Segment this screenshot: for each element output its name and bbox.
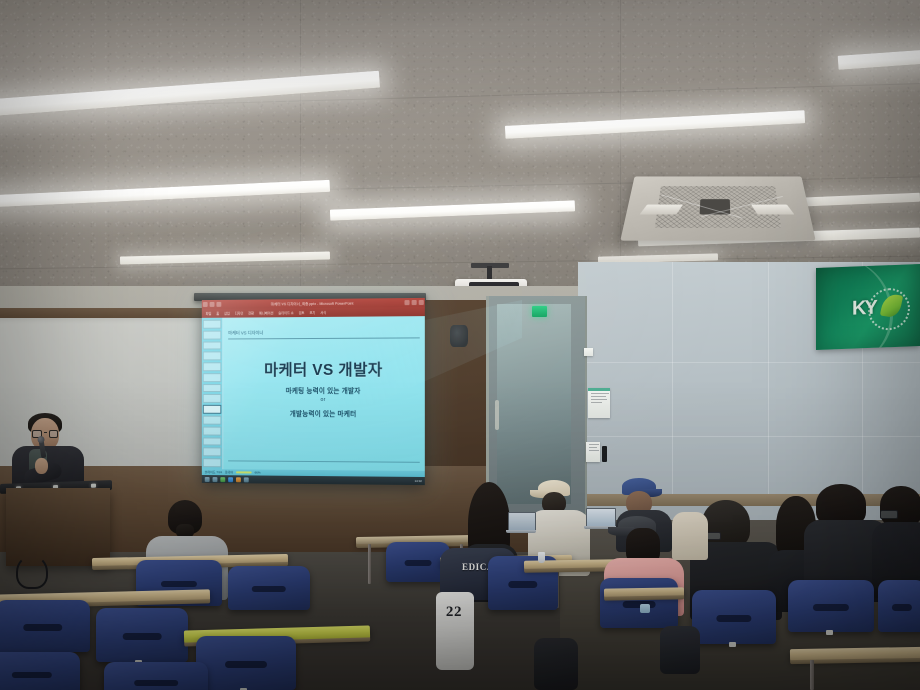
slide-header-text: 마케터 VS 디자이너 — [228, 329, 420, 336]
panel-seam — [578, 362, 920, 363]
slide-thumbnail[interactable] — [203, 384, 222, 393]
ribbon-tab-slideshow[interactable]: 슬라이드 쇼 — [278, 310, 293, 315]
powerpoint-title: 마케터 VS 디자이너_최종.pptx - Microsoft PowerPoi… — [222, 300, 403, 307]
ribbon-tab-format[interactable]: 서식 — [320, 310, 326, 315]
green-banner: KY — [816, 264, 920, 350]
ribbon-tab-insert[interactable]: 삽입 — [224, 311, 230, 316]
slide-canvas[interactable]: 마케터 VS 디자이너 마케터 VS 개발자 마케팅 능력이 있는 개발자 or… — [223, 316, 425, 471]
slide-thumbnail[interactable] — [203, 426, 222, 435]
slide-thumbnail[interactable] — [203, 330, 222, 339]
exit-sign-icon — [532, 306, 547, 317]
ribbon-tab-animations[interactable]: 애니메이션 — [259, 310, 273, 315]
chair-handle-slot — [892, 604, 912, 611]
chair[interactable] — [0, 652, 80, 690]
undo-icon[interactable] — [216, 302, 221, 307]
notice-line — [589, 447, 597, 448]
ceiling-texture — [0, 0, 920, 300]
laptop-base — [506, 530, 536, 533]
slide-thumbnail[interactable] — [203, 320, 222, 329]
chair[interactable] — [228, 566, 310, 610]
microphone-head — [37, 436, 45, 444]
ceiling-ac-unit — [620, 176, 815, 240]
hair — [702, 500, 750, 548]
cable — [16, 555, 48, 589]
slide-thumbnail[interactable] — [203, 437, 222, 446]
panel-seam — [578, 436, 920, 437]
chair-handle-slot — [508, 581, 537, 588]
notice-line — [589, 450, 599, 451]
chair-handle-slot — [405, 560, 432, 565]
notice-band — [588, 388, 610, 391]
panel-seam — [672, 262, 673, 497]
chair-clip — [729, 642, 736, 647]
desk-leg — [368, 544, 371, 584]
ribbon-tab-home[interactable]: 홈 — [216, 311, 219, 316]
notice-line — [591, 402, 602, 403]
slide-thumbnail[interactable] — [203, 341, 222, 350]
logo-text: KY — [852, 297, 876, 321]
slide-thumbnail[interactable] — [203, 373, 222, 382]
powerpoint-workspace: 마케터 VS 디자이너 마케터 VS 개발자 마케팅 능력이 있는 개발자 or… — [202, 316, 425, 471]
wall-speaker-icon — [450, 325, 468, 347]
podium — [6, 488, 110, 566]
chair[interactable] — [788, 580, 874, 632]
wall-notice — [588, 388, 610, 418]
jersey-number: 22 — [438, 604, 470, 621]
search-icon[interactable] — [213, 477, 218, 482]
cup — [640, 604, 650, 613]
slide-divider — [228, 337, 420, 339]
start-icon[interactable] — [205, 477, 210, 482]
notice-line — [591, 399, 607, 400]
slide-subtitle-2: 개발능력이 있는 마케터 — [228, 408, 420, 418]
slide-counter: 슬라이드 7/24 — [205, 470, 222, 474]
hair — [880, 486, 920, 526]
slide-thumbnail-panel[interactable] — [202, 318, 223, 470]
notice-line — [589, 444, 599, 445]
slide-thumbnail-selected[interactable] — [203, 405, 222, 414]
slide-divider — [228, 460, 420, 462]
chair[interactable] — [196, 636, 296, 690]
slide-thumbnail[interactable] — [203, 362, 222, 371]
app-icon[interactable] — [244, 477, 249, 482]
ribbon-tab-design[interactable]: 디자인 — [235, 311, 244, 316]
chair-handle-slot — [161, 581, 197, 587]
wall-notice — [586, 442, 600, 462]
laptop-screen — [508, 512, 536, 532]
chair[interactable] — [104, 662, 208, 690]
backpack[interactable] — [534, 638, 578, 690]
powerpoint-taskbar-icon[interactable] — [236, 477, 241, 482]
presenter-hand — [35, 458, 48, 474]
glasses-lens-right — [49, 430, 59, 438]
zoom-slider[interactable] — [236, 471, 252, 474]
chair[interactable] — [600, 578, 678, 628]
notice-line — [591, 396, 606, 397]
slide-thumbnail[interactable] — [203, 352, 222, 361]
window-icon — [203, 302, 208, 307]
chair[interactable] — [692, 590, 776, 644]
slide-title-text: 마케터 VS 개발자 — [228, 358, 420, 380]
glasses-icon — [706, 532, 721, 540]
chair[interactable] — [0, 600, 90, 652]
zoom-level[interactable]: 66% — [255, 471, 261, 475]
taskbar-clock: 14:32 — [415, 479, 422, 483]
cup — [538, 552, 545, 563]
language-indicator[interactable]: 한국어 — [225, 470, 233, 474]
desk — [790, 647, 920, 661]
slide-thumbnail[interactable] — [203, 458, 222, 467]
desk — [604, 587, 684, 597]
wall-notice — [584, 348, 593, 356]
minimize-icon[interactable] — [404, 300, 409, 305]
banner-logo: KY — [850, 286, 908, 330]
chair[interactable] — [878, 580, 920, 632]
chair-handle-slot — [623, 601, 656, 608]
ac-vane — [751, 205, 794, 215]
chair[interactable] — [96, 608, 188, 662]
desk-leg — [810, 660, 814, 690]
glasses-icon — [32, 430, 58, 436]
ribbon-tab-review[interactable]: 검토 — [299, 310, 305, 315]
glasses-icon — [880, 510, 898, 519]
ceiling-seam — [620, 0, 621, 300]
chair-handle-slot — [225, 661, 267, 668]
ribbon-tab-view[interactable]: 보기 — [309, 310, 315, 315]
wall-switch[interactable] — [602, 446, 607, 462]
close-icon[interactable] — [419, 300, 424, 305]
browser-icon[interactable] — [228, 477, 233, 482]
backpack[interactable] — [660, 626, 700, 674]
ribbon-tab-transitions[interactable]: 전환 — [248, 311, 254, 316]
projector-mount-pole — [487, 266, 492, 280]
chair-handle-slot — [813, 604, 849, 611]
chair-handle-slot — [12, 672, 52, 678]
glass-door[interactable] — [486, 296, 587, 516]
chair-handle-slot — [123, 633, 162, 640]
slide-subtitle-or: or — [228, 397, 420, 403]
glasses-bridge — [44, 432, 47, 433]
chair-handle-slot — [134, 680, 178, 685]
chair-handle-slot — [252, 586, 286, 592]
projection-screen: 마케터 VS 디자이너_최종.pptx - Microsoft PowerPoi… — [202, 298, 425, 485]
torso — [672, 512, 708, 560]
ribbon-tab-file[interactable]: 파일 — [206, 311, 212, 316]
notice-line — [591, 393, 609, 394]
ac-vane — [640, 205, 683, 215]
slide-thumbnail[interactable] — [203, 394, 222, 403]
door-handle[interactable] — [495, 400, 499, 430]
save-icon[interactable] — [210, 302, 215, 307]
chair-clip — [826, 630, 833, 635]
lecture-hall-photo: KY 마케터 VS 디자이너_최종.pptx - Microsoft Power… — [0, 0, 920, 690]
slide-thumbnail[interactable] — [203, 416, 222, 425]
slide-thumbnail[interactable] — [203, 448, 222, 457]
slide-subtitle-1: 마케팅 능력이 있는 개발자 — [228, 385, 420, 395]
maximize-icon[interactable] — [412, 300, 417, 305]
explorer-icon[interactable] — [220, 477, 225, 482]
chair-handle-slot — [716, 615, 751, 622]
door-glass-pane — [497, 304, 571, 504]
laptop-screen — [586, 508, 616, 528]
panel-seam — [768, 262, 769, 497]
chair-handle-slot — [23, 624, 62, 631]
